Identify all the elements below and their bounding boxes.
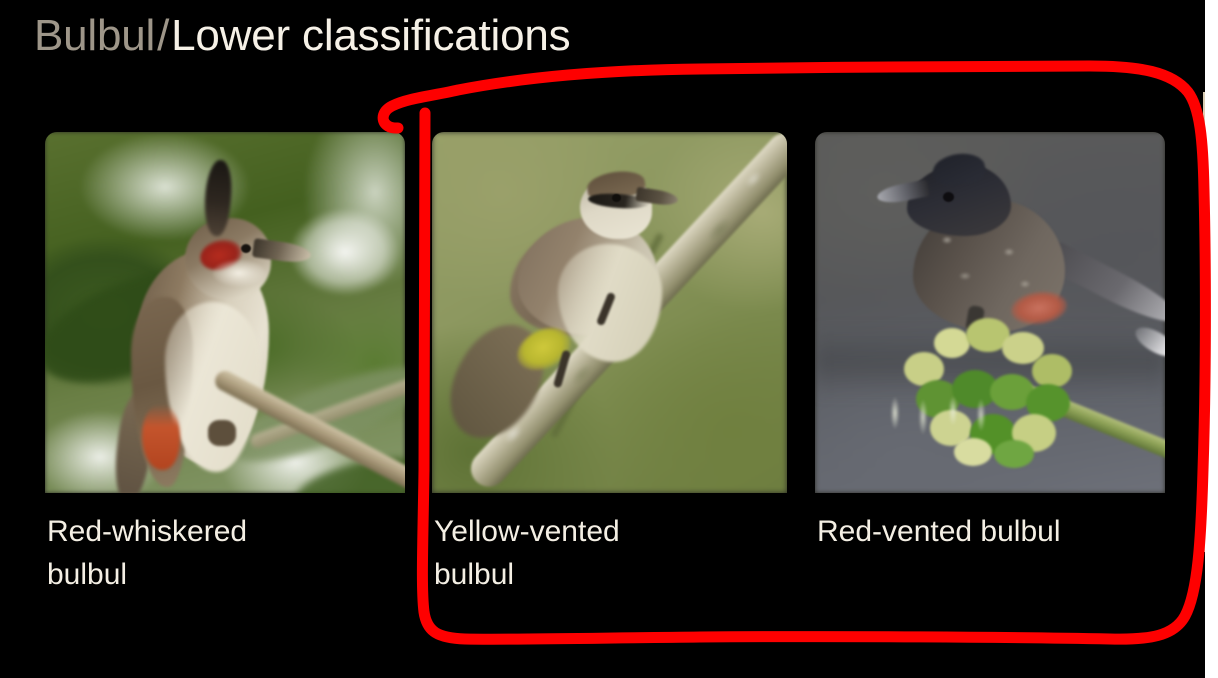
flower-filament-wisps [875, 387, 1005, 439]
classification-card-label[interactable]: Yellow-vented bulbul [434, 510, 704, 596]
classification-card-label[interactable]: Red-vented bulbul [817, 510, 1067, 553]
red-vented-bulbul-photo[interactable] [815, 132, 1165, 493]
right-gutter-hairline [1203, 92, 1205, 552]
classification-card-yellow-vented[interactable]: Yellow-vented bulbul [432, 132, 787, 493]
bird-white-cheek [213, 260, 265, 286]
yellow-vented-bulbul-photo[interactable] [432, 132, 787, 493]
red-whiskered-bulbul-photo[interactable] [45, 132, 405, 493]
lower-classifications-card-row: Red-whiskered bulbul [0, 0, 1218, 678]
bird-eye [241, 244, 251, 253]
bird-vent-red [142, 404, 180, 470]
bird-eye [943, 192, 954, 202]
classification-card-label[interactable]: Red-whiskered bulbul [47, 510, 257, 596]
bird-foot [208, 420, 236, 446]
screenshot-root: Bulbul/Lower classifications [0, 0, 1218, 678]
classification-card-red-vented[interactable]: Red-vented bulbul [815, 132, 1165, 493]
classification-card-red-whiskered[interactable]: Red-whiskered bulbul [45, 132, 405, 493]
right-gutter [1205, 0, 1218, 678]
bird-eye [612, 194, 621, 202]
